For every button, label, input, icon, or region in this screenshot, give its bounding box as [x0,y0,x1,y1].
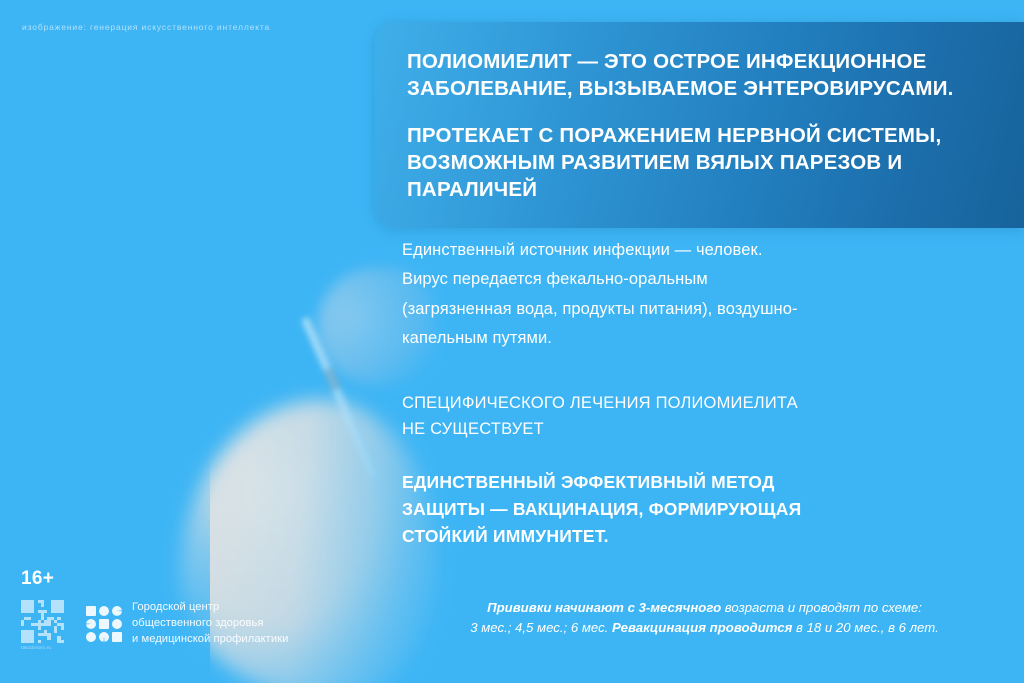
logo-shape-square-1 [86,606,96,616]
qr-code-caption: takzdorovo.ru [21,645,64,650]
logo-shape-square-3 [112,632,122,642]
logo-shape-pacman-1 [112,606,122,616]
transmission-line: (загрязненная вода, продукты питания), в… [402,295,1006,324]
content-column: Единственный источник инфекции — человек… [375,228,1024,550]
schedule-note-pre-2: 3 мес.; 4,5 мес.; 6 мес. [470,620,612,635]
vaccination-line: ЗАЩИТЫ — ВАКЦИНАЦИЯ, ФОРМИРУЮЩАЯ [402,496,1006,523]
qr-code-block[interactable]: takzdorovo.ru [21,600,64,650]
vaccination-line: ЕДИНСТВЕННЫЙ ЭФФЕКТИВНЫЙ МЕТОД [402,469,1006,496]
vaccination-paragraph: ЕДИНСТВЕННЫЙ ЭФФЕКТИВНЫЙ МЕТОД ЗАЩИТЫ — … [402,469,1006,550]
organisation-name-line: общественного здоровья [132,616,288,632]
headline-block-definition: ПОЛИОМИЕЛИТ — ЭТО ОСТРОЕ ИНФЕКЦИОННОЕ ЗА… [407,48,994,103]
organisation-name-line: Городской центр [132,600,288,616]
no-treatment-line: СПЕЦИФИЧЕСКОГО ЛЕЧЕНИЯ ПОЛИОМИЕЛИТА [402,391,1006,417]
organisation-name-line: и медицинской профилактики [132,632,288,648]
headline-line: ПРОТЕКАЕТ С ПОРАЖЕНИЕМ НЕРВНОЙ СИСТЕМЫ, [407,122,994,149]
vaccination-line: СТОЙКИЙ ИММУНИТЕТ. [402,523,1006,550]
headline-card: ПОЛИОМИЕЛИТ — ЭТО ОСТРОЕ ИНФЕКЦИОННОЕ ЗА… [375,22,1024,228]
logo-shape-circle-1 [99,606,109,616]
schedule-note-bold-1: Прививки начинают с 3-месячного [487,600,721,615]
headline-line: ЗАБОЛЕВАНИЕ, ВЫЗЫВАЕМОЕ ЭНТЕРОВИРУСАМИ. [407,75,994,102]
schedule-note-bold-2: Ревакцинация проводится [612,620,792,635]
organisation-logo: Городской центр общественного здоровья и… [86,600,288,648]
headline-line: ПАРАЛИЧЕЙ [407,176,994,203]
schedule-note-rest-2: в 18 и 20 мес., в 6 лет. [792,620,938,635]
ai-generated-watermark: изображение: генерация искусственного ин… [22,22,270,32]
age-rating-badge: 16+ [21,568,54,590]
no-treatment-line: НЕ СУЩЕСТВУЕТ [402,417,1006,443]
transmission-line: Единственный источник инфекции — человек… [402,236,1006,265]
headline-block-symptoms: ПРОТЕКАЕТ С ПОРАЖЕНИЕМ НЕРВНОЙ СИСТЕМЫ, … [407,122,994,204]
logo-shape-circle-2 [112,619,122,629]
no-treatment-paragraph: СПЕЦИФИЧЕСКОГО ЛЕЧЕНИЯ ПОЛИОМИЕЛИТА НЕ С… [402,391,1006,442]
vaccination-schedule-note: Прививки начинают с 3-месячного возраста… [375,598,1024,639]
transmission-paragraph: Единственный источник инфекции — человек… [402,236,1006,353]
logo-shapes-grid-icon [86,606,122,642]
logo-shape-pacman-3 [99,632,109,642]
headline-line: ВОЗМОЖНЫМ РАЗВИТИЕМ ВЯЛЫХ ПАРЕЗОВ И [407,149,994,176]
logo-shape-circle-3 [86,632,96,642]
qr-code-icon[interactable] [21,600,64,643]
poster-root: изображение: генерация искусственного ин… [0,0,1024,683]
headline-line: ПОЛИОМИЕЛИТ — ЭТО ОСТРОЕ ИНФЕКЦИОННОЕ [407,48,994,75]
transmission-line: Вирус передается фекально-оральным [402,265,1006,294]
schedule-note-line-1: Прививки начинают с 3-месячного возраста… [393,598,1016,618]
schedule-note-rest-1: возраста и проводят по схеме: [721,600,922,615]
schedule-note-line-2: 3 мес.; 4,5 мес.; 6 мес. Ревакцинация пр… [393,618,1016,638]
logo-shape-square-2 [99,619,109,629]
logo-shape-pacman-2 [86,619,96,629]
organisation-name: Городской центр общественного здоровья и… [132,600,288,648]
transmission-line: капельным путями. [402,324,1006,353]
